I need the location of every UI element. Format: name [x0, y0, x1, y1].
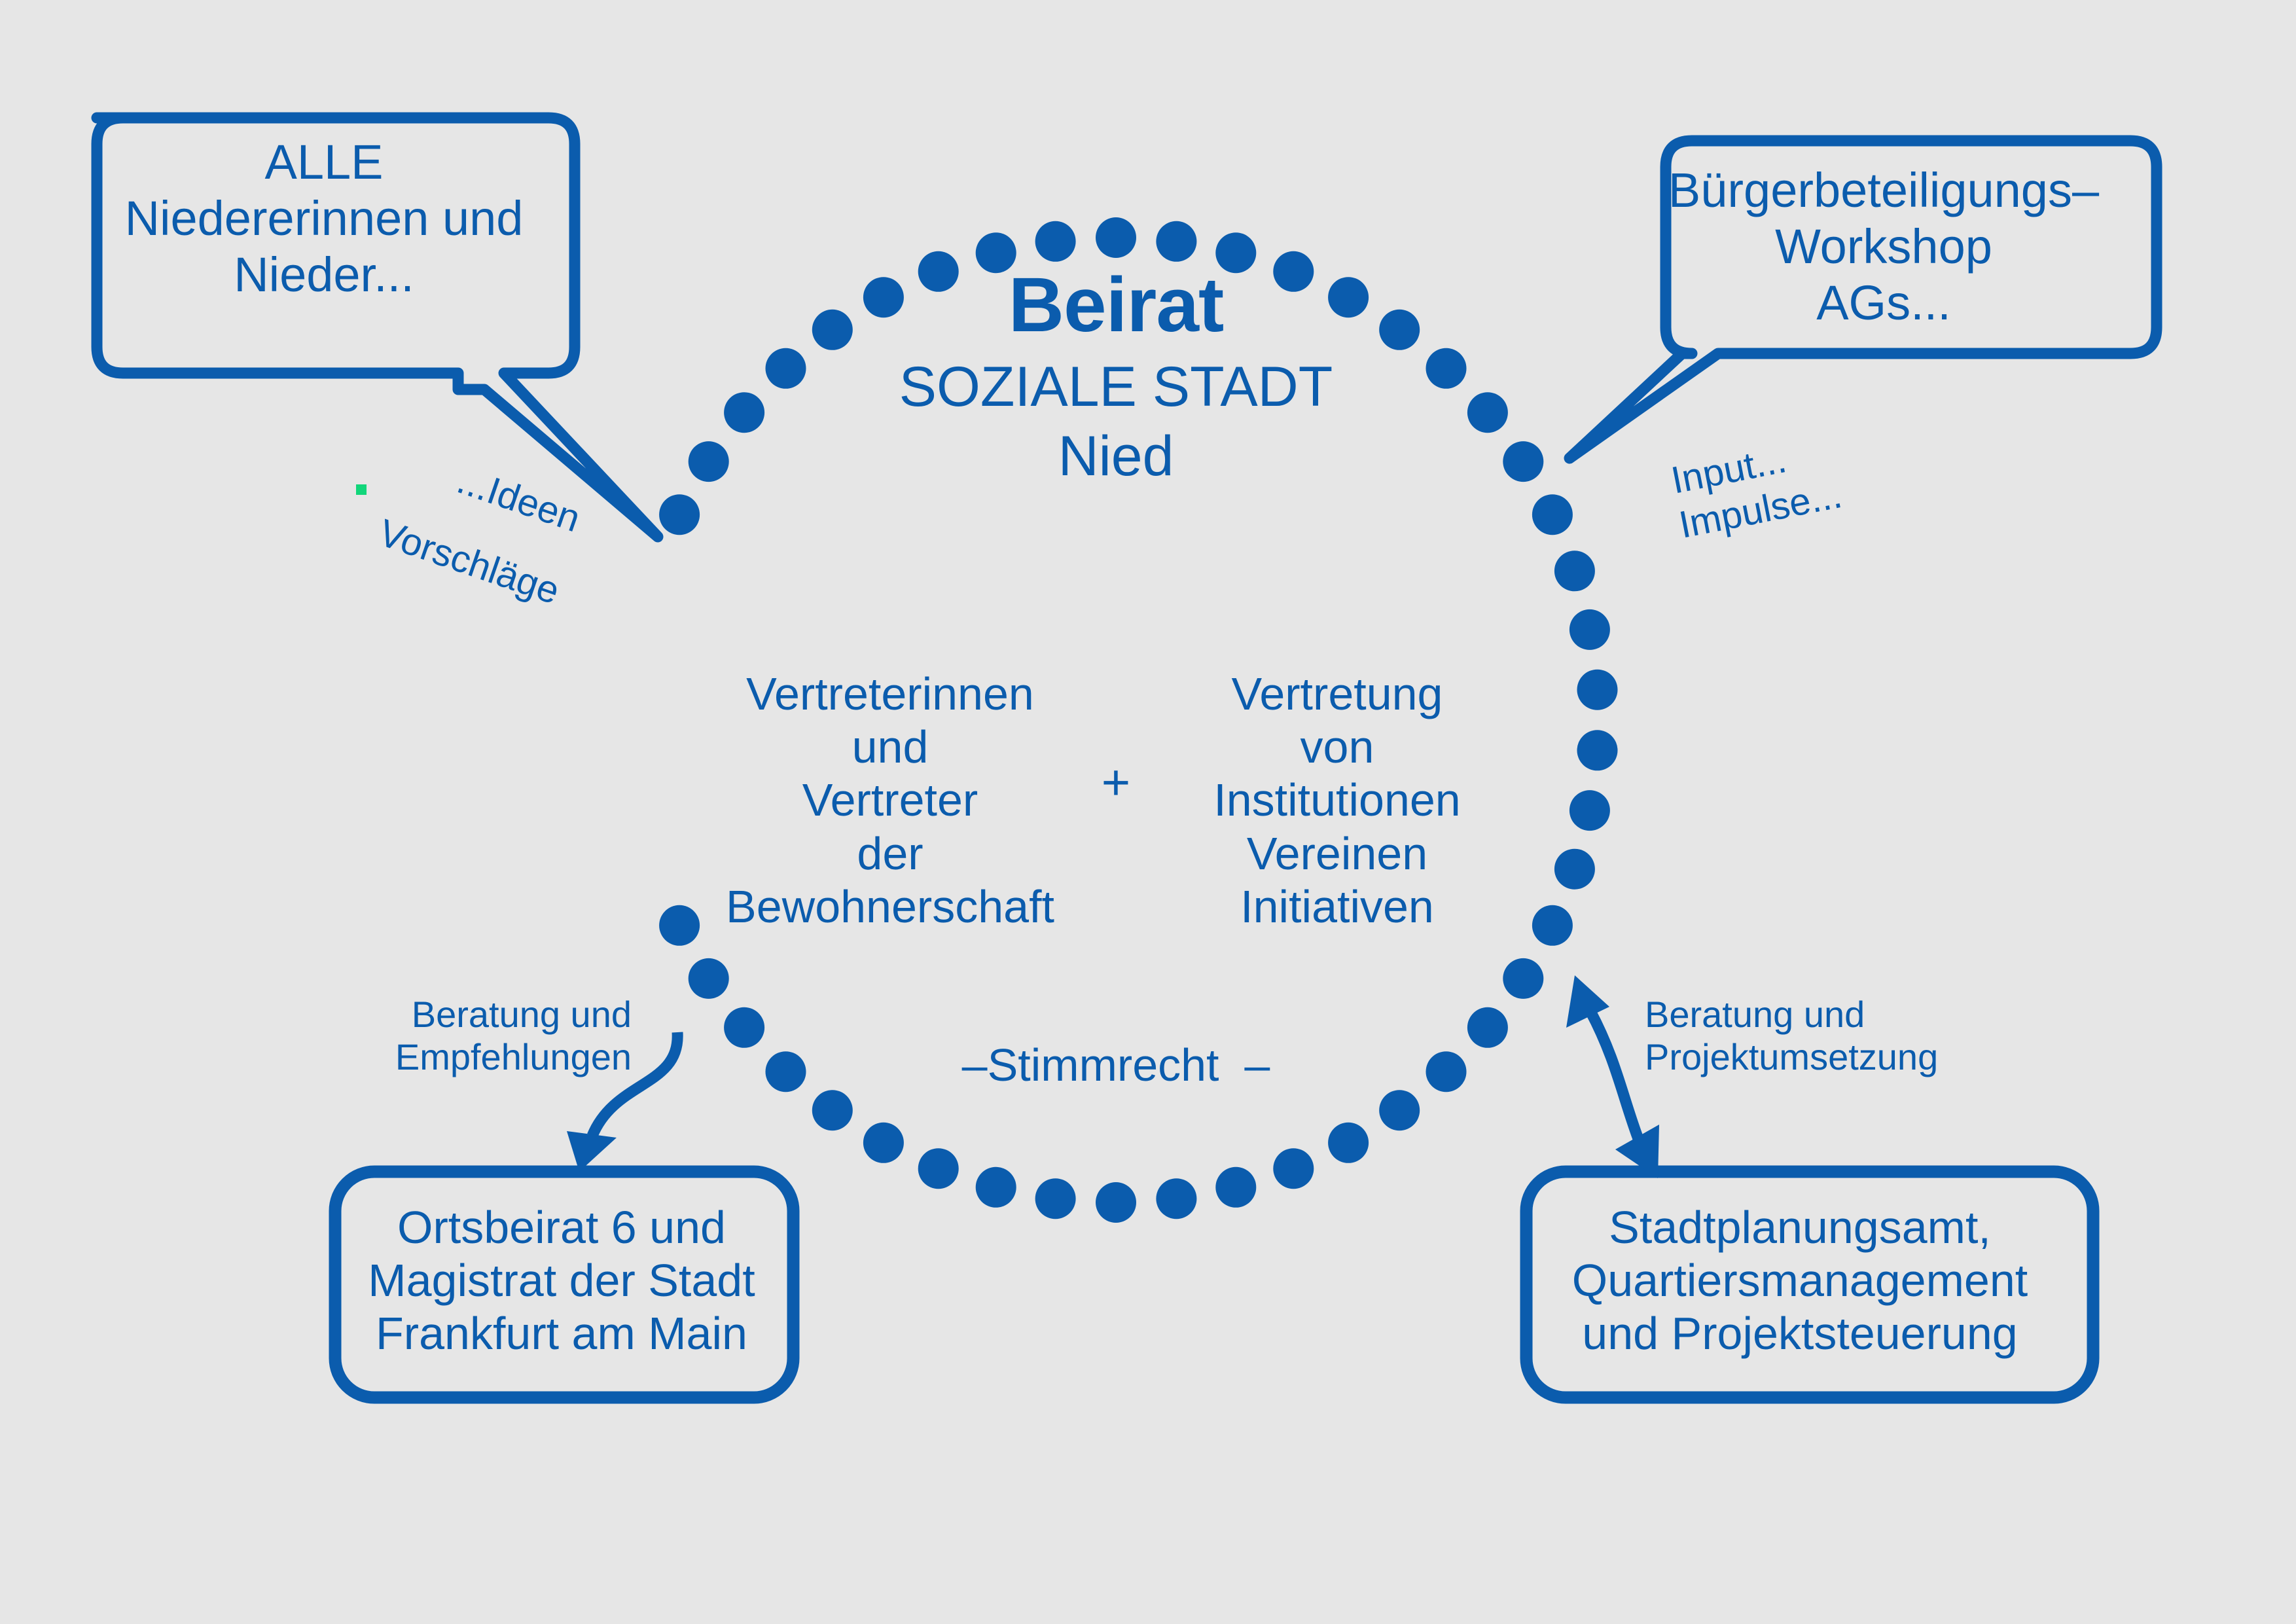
ring-dot	[918, 1148, 959, 1189]
ring-dot	[766, 348, 806, 389]
ring-dot	[1577, 730, 1618, 770]
ring-dot	[1554, 849, 1595, 890]
arrow-left-caption: Beratung und Empfehlungen	[395, 994, 632, 1079]
ring-dot	[1426, 1051, 1467, 1092]
diagram-canvas: Beirat SOZIALE STADT Nied Vertreterinnen…	[0, 0, 2296, 1624]
box-ortsbeirat-text: Ortsbeirat 6 und Magistrat der Stadt Fra…	[368, 1201, 755, 1361]
ring-dot	[863, 277, 904, 317]
ring-dot	[1554, 550, 1595, 591]
ring-dot	[1467, 1007, 1508, 1048]
speech-bubble-top-left-text: ALLE Niedererinnen und Nieder...	[125, 134, 524, 302]
ring-dot	[1379, 310, 1420, 350]
ring-dot	[1328, 277, 1369, 317]
ring-dot	[1532, 905, 1573, 946]
ring-dot	[1503, 958, 1543, 999]
ring-dot	[659, 494, 700, 535]
ring-dot	[1570, 790, 1610, 831]
ring-dot	[1096, 1182, 1136, 1223]
plus-symbol: +	[1102, 754, 1130, 812]
ring-dot	[1328, 1123, 1369, 1163]
ring-dot	[724, 1007, 764, 1048]
ring-dot	[1273, 251, 1314, 292]
ring-dot	[724, 392, 764, 433]
ring-dot	[1156, 1178, 1196, 1219]
center-column-right: Vertretung von Institutionen Vereinen In…	[1213, 668, 1460, 933]
center-subtitle-2: Nied	[1058, 424, 1174, 490]
ring-dot	[689, 958, 729, 999]
ring-dot	[812, 1090, 853, 1130]
arrow-right-caption: Beratung und Projektumsetzung	[1645, 994, 1938, 1079]
ring-dot	[918, 251, 959, 292]
ring-dot	[689, 441, 729, 482]
ring-dot	[1035, 1178, 1076, 1219]
ring-dot	[976, 1167, 1016, 1208]
ring-dot	[1035, 221, 1076, 262]
ring-dot	[1467, 392, 1508, 433]
ring-dot	[1156, 221, 1196, 262]
ring-dot	[1532, 494, 1573, 535]
ring-dot	[1096, 217, 1136, 258]
ring-dot	[1273, 1148, 1314, 1189]
center-subtitle-1: SOZIALE STADT	[899, 355, 1333, 420]
center-column-left: Vertreterinnen und Vertreter der Bewohne…	[726, 668, 1054, 933]
ring-dot	[1503, 441, 1543, 482]
ring-dot	[766, 1051, 806, 1092]
ring-dot	[1426, 348, 1467, 389]
ring-dot	[1570, 609, 1610, 650]
stimmrecht-note: –Stimmrecht –	[962, 1039, 1270, 1092]
green-marker-dot	[356, 484, 367, 495]
ring-dot	[1215, 1167, 1256, 1208]
ring-dot	[1379, 1090, 1420, 1130]
page-title: Beirat	[1009, 261, 1223, 350]
ring-dot	[1577, 670, 1618, 710]
ring-dot	[863, 1123, 904, 1163]
ring-dot	[812, 310, 853, 350]
ring-dot	[659, 905, 700, 946]
box-stadtplanungsamt-text: Stadtplanungsamt, Quartiersmanagement un…	[1572, 1201, 2028, 1361]
speech-bubble-top-right-text: Bürgerbeteiligungs– Workshop AGs...	[1668, 162, 2099, 331]
